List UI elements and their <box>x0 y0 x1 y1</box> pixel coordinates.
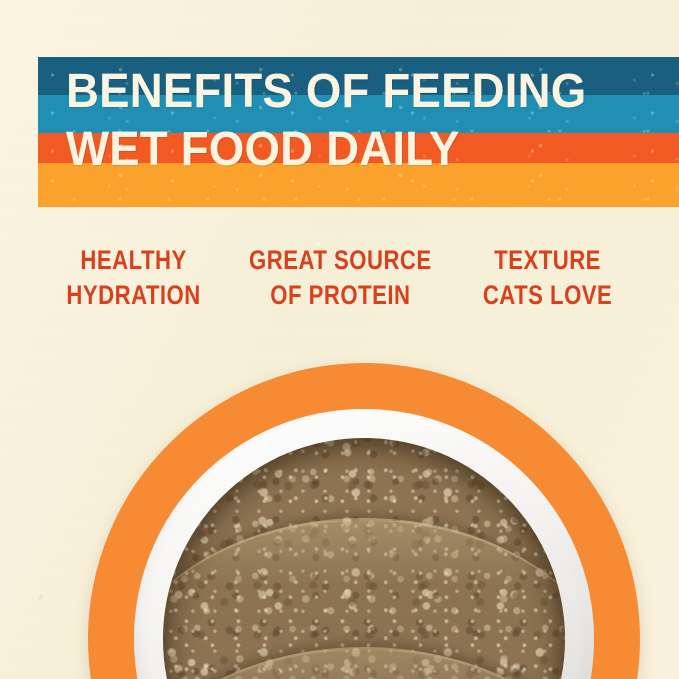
headline-text: BENEFITS OF FEEDING WET FOOD DAILY <box>66 63 655 179</box>
cat-food-bowl <box>88 363 640 679</box>
food-ridge-middle <box>163 647 565 679</box>
benefits-row: HEALTHY HYDRATION GREAT SOURCE OF PROTEI… <box>38 243 643 313</box>
benefit-great-source-of-protein-line-2: OF PROTEIN <box>249 278 432 313</box>
benefit-texture-cats-love: TEXTURE CATS LOVE <box>469 243 626 313</box>
food-ridge-top <box>163 518 565 679</box>
poster-image: BENEFITS OF FEEDING WET FOOD DAILY HEALT… <box>0 0 679 679</box>
benefit-texture-cats-love-line-2: CATS LOVE <box>469 278 626 313</box>
benefit-healthy-hydration-line-2: HYDRATION <box>55 278 212 313</box>
benefit-great-source-of-protein: GREAT SOURCE OF PROTEIN <box>249 243 432 313</box>
headline-line-2: WET FOOD DAILY <box>66 121 655 179</box>
headline-line-1: BENEFITS OF FEEDING <box>66 63 655 121</box>
benefit-great-source-of-protein-line-1: GREAT SOURCE <box>249 243 432 278</box>
benefit-texture-cats-love-line-1: TEXTURE <box>469 243 626 278</box>
benefit-healthy-hydration-line-1: HEALTHY <box>55 243 212 278</box>
benefit-healthy-hydration: HEALTHY HYDRATION <box>55 243 212 313</box>
